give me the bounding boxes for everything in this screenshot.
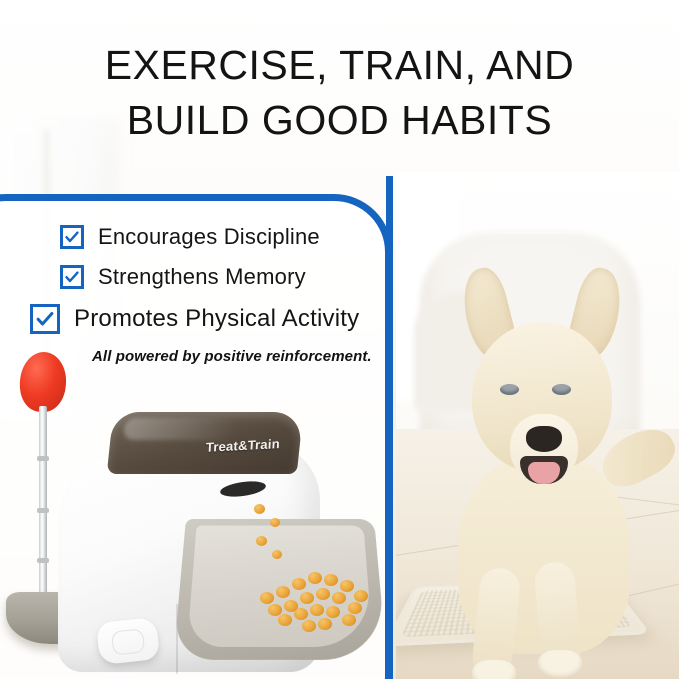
falling-kibble (270, 518, 280, 527)
treat-dispenser: Treat&Train (58, 408, 388, 679)
kibble (342, 614, 356, 626)
target-pole (39, 406, 47, 606)
kibble (308, 572, 322, 584)
kibble (276, 586, 290, 598)
kibble (294, 608, 308, 620)
dog-eye-right (552, 384, 571, 395)
kibble (348, 602, 362, 614)
page-title: EXERCISE, TRAIN, AND BUILD GOOD HABITS (0, 38, 679, 148)
pole-joint (37, 508, 49, 513)
falling-kibble (254, 504, 265, 514)
feature-item-2: Strengthens Memory (60, 264, 380, 290)
kibble (326, 606, 340, 618)
kibble-pile (254, 558, 372, 624)
feature-tagline: All powered by positive reinforcement. (92, 348, 380, 365)
hopper-gloss (123, 418, 235, 440)
dog-nose (526, 426, 562, 452)
dog (414, 268, 674, 679)
feature-label: Promotes Physical Activity (74, 305, 359, 333)
dog-paw-right (538, 650, 582, 679)
dog-eye-left (500, 384, 519, 395)
dog-paw-left (472, 660, 516, 679)
dog-photo (396, 172, 679, 679)
target-ball (18, 350, 68, 413)
feature-label: Strengthens Memory (98, 264, 306, 290)
checkbox-checked-icon (60, 225, 84, 249)
kibble (260, 592, 274, 604)
kibble (354, 590, 368, 602)
falling-kibble (256, 536, 267, 546)
kibble (332, 592, 346, 604)
kibble (302, 620, 316, 632)
kibble (300, 592, 314, 604)
checkbox-checked-icon (60, 265, 84, 289)
feature-list: Encourages Discipline Strengthens Memory… (30, 224, 380, 365)
kibble (310, 604, 324, 616)
kibble (316, 588, 330, 600)
pole-joint (37, 456, 49, 461)
feature-item-3: Promotes Physical Activity (30, 304, 380, 334)
kibble (340, 580, 354, 592)
remote-control[interactable] (96, 617, 160, 665)
feature-item-1: Encourages Discipline (60, 224, 380, 250)
kibble (318, 618, 332, 630)
kibble (292, 578, 306, 590)
pole-joint (37, 558, 49, 563)
kibble (278, 614, 292, 626)
checkbox-checked-icon (30, 304, 60, 334)
feature-label: Encourages Discipline (98, 224, 320, 250)
product-banner: EXERCISE, TRAIN, AND BUILD GOOD HABITS (0, 0, 679, 679)
kibble (324, 574, 338, 586)
